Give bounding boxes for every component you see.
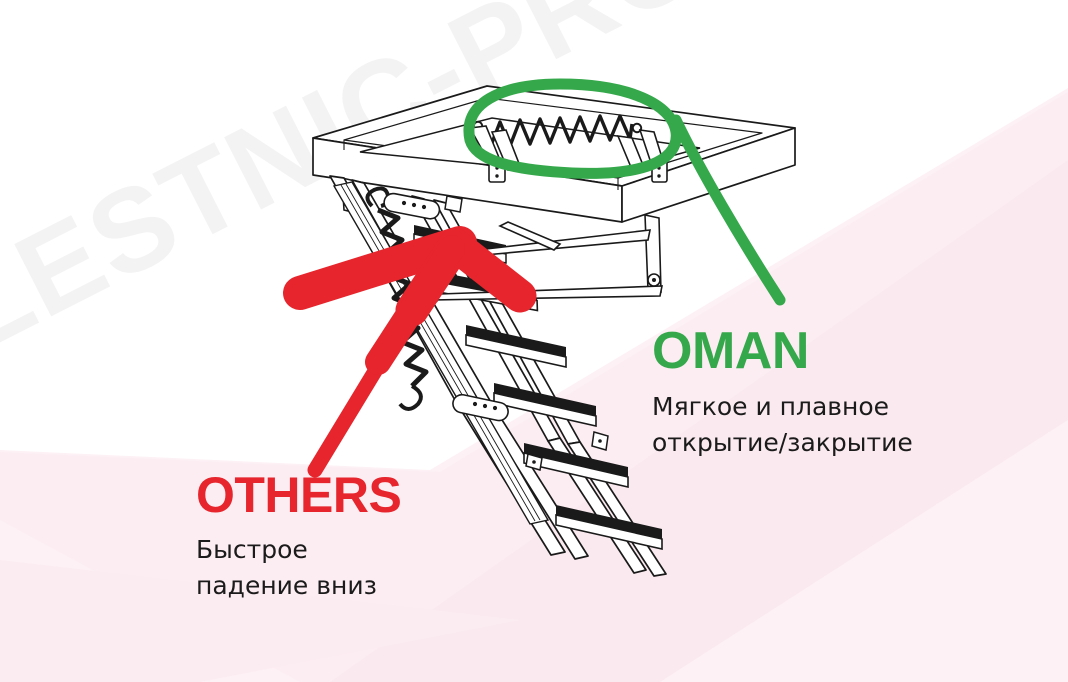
right-support-post xyxy=(645,215,661,292)
oman-description: Мягкое и плавное открытие/закрытие xyxy=(652,389,982,460)
others-line-2: падение вниз xyxy=(196,568,516,604)
others-line-1: Быстрое xyxy=(196,532,516,568)
brand-others: OTHERS xyxy=(196,470,516,520)
callout-others: OTHERS Быстрое падение вниз xyxy=(196,470,516,603)
promo-graphic: LESTNIC-PROSTO.RU xyxy=(0,0,1068,682)
callout-oman: OMAN Мягкое и плавное открытие/закрытие xyxy=(652,325,982,460)
brand-oman: OMAN xyxy=(652,325,982,377)
others-description: Быстрое падение вниз xyxy=(196,532,516,603)
oman-line-2: открытие/закрытие xyxy=(652,425,982,461)
oman-line-1: Мягкое и плавное xyxy=(652,389,982,425)
